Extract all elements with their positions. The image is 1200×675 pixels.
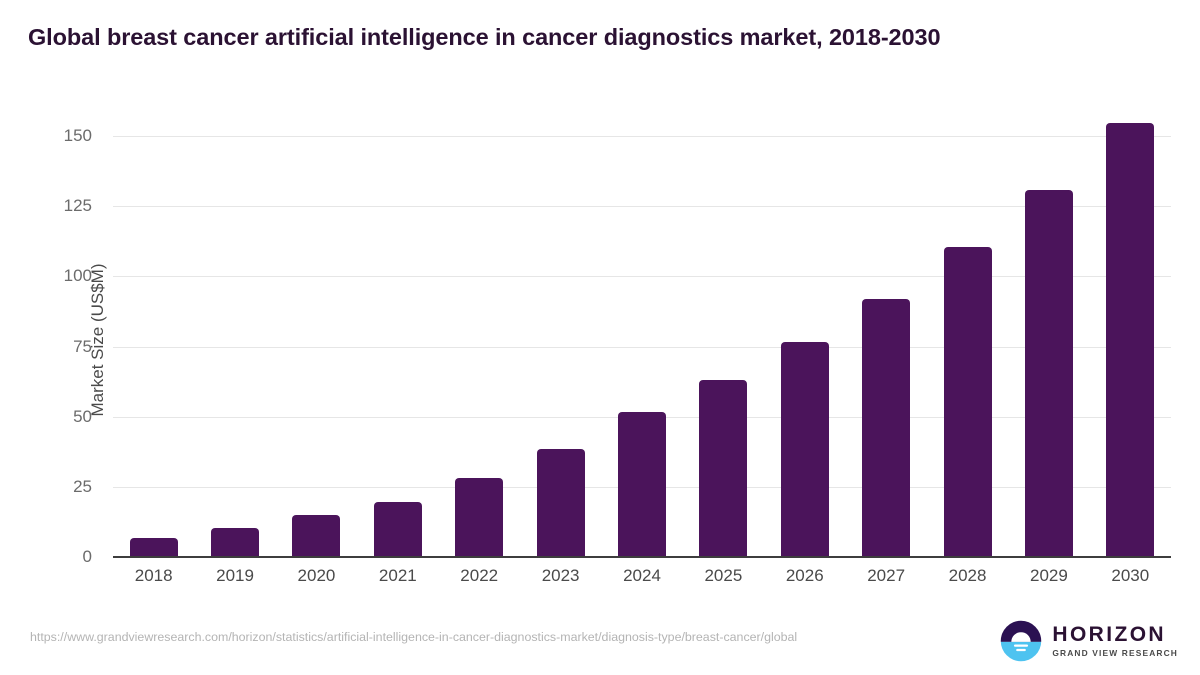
logo-wordmark: HORIZON [1052, 624, 1178, 645]
x-axis-line [113, 556, 1171, 558]
bar-slot [357, 122, 438, 557]
x-axis-tick-label: 2020 [298, 566, 336, 586]
x-axis-tick-label: 2018 [135, 566, 173, 586]
x-axis-tick-label: 2023 [542, 566, 580, 586]
bar[interactable] [944, 247, 992, 557]
bar-slot [1008, 122, 1089, 557]
bar[interactable] [292, 515, 340, 557]
y-axis-tick-label: 150 [32, 126, 92, 146]
x-axis-tick-label: 2028 [949, 566, 987, 586]
logo-text: HORIZON GRAND VIEW RESEARCH [1052, 624, 1178, 657]
bar-slot [683, 122, 764, 557]
x-axis-tick-label: 2029 [1030, 566, 1068, 586]
bar[interactable] [211, 528, 259, 557]
bar[interactable] [1106, 123, 1154, 557]
y-axis-tick-label: 100 [32, 266, 92, 286]
bar-slot [439, 122, 520, 557]
bar-slot [601, 122, 682, 557]
bar[interactable] [781, 342, 829, 557]
bar[interactable] [862, 299, 910, 557]
x-axis-tick-label: 2026 [786, 566, 824, 586]
x-axis-tick-label: 2025 [704, 566, 742, 586]
bar[interactable] [1025, 190, 1073, 557]
bar-slot [194, 122, 275, 557]
bar[interactable] [455, 478, 503, 557]
y-axis-tick-label: 50 [32, 407, 92, 427]
x-axis-tick-label: 2030 [1111, 566, 1149, 586]
page-title: Global breast cancer artificial intellig… [28, 22, 1168, 52]
bar[interactable] [699, 380, 747, 557]
bar-slot [520, 122, 601, 557]
x-axis-tick-label: 2019 [216, 566, 254, 586]
bar-slot [927, 122, 1008, 557]
bar[interactable] [374, 502, 422, 557]
x-axis-tick-label: 2024 [623, 566, 661, 586]
bar-slot [276, 122, 357, 557]
bar-slot [1090, 122, 1171, 557]
bar-slot [113, 122, 194, 557]
x-axis-tick-label: 2021 [379, 566, 417, 586]
y-axis-tick-label: 0 [32, 547, 92, 567]
y-axis-tick-label: 125 [32, 196, 92, 216]
bar[interactable] [618, 412, 666, 557]
bar[interactable] [130, 538, 178, 557]
x-axis-tick-label: 2022 [460, 566, 498, 586]
logo-tagline: GRAND VIEW RESEARCH [1052, 649, 1178, 657]
horizon-logo-icon [999, 619, 1043, 663]
x-axis-tick-label: 2027 [867, 566, 905, 586]
brand-logo: HORIZON GRAND VIEW RESEARCH [999, 618, 1178, 664]
y-axis-tick-label: 25 [32, 477, 92, 497]
y-axis-ticks: 0255075100125150 [0, 122, 100, 557]
source-url[interactable]: https://www.grandviewresearch.com/horizo… [30, 629, 910, 645]
bar-slot [764, 122, 845, 557]
chart-card: Global breast cancer artificial intellig… [0, 0, 1200, 675]
y-axis-tick-label: 75 [32, 337, 92, 357]
bar-slot [845, 122, 926, 557]
plot-area [113, 122, 1171, 557]
bar[interactable] [537, 449, 585, 557]
x-axis-ticks: 2018201920202021202220232024202520262027… [113, 566, 1171, 592]
